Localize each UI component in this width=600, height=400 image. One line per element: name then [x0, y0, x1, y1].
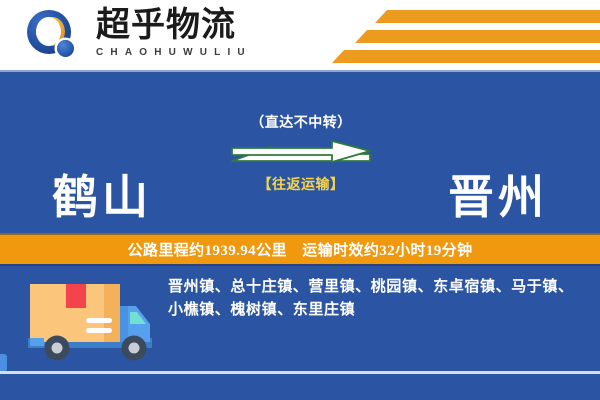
route-middle-block: （直达不中转） 【往返运输】: [226, 112, 376, 194]
logistics-route-banner: 超乎物流 CHAOHUWULIU 鹤山 （直达不中转） 【往返运输】 晋州: [0, 0, 600, 400]
round-trip-note: 【往返运输】: [226, 174, 376, 194]
circle-crescent-logo-icon: [27, 10, 81, 64]
road-line: [0, 371, 600, 374]
brand-header: 超乎物流 CHAOHUWULIU: [0, 0, 600, 72]
covered-towns-list: 晋州镇、总十庄镇、营里镇、桃园镇、东卓宿镇、马于镇、小樵镇、槐树镇、东里庄镇: [168, 276, 586, 322]
stripe-3: [332, 50, 600, 63]
left-edge-tab: [0, 354, 7, 372]
brand-name-cn: 超乎物流: [96, 8, 252, 44]
brand-text-block: 超乎物流 CHAOHUWULIU: [96, 8, 252, 58]
brand-name-en: CHAOHUWULIU: [96, 47, 252, 58]
delivery-truck-icon: [24, 278, 156, 364]
distance-duration-text: 公路里程约1939.94公里 运输时效约32小时19分钟: [128, 239, 473, 260]
destination-city: 晋州: [448, 161, 548, 227]
route-info-bar: 公路里程约1939.94公里 运输时效约32小时19分钟: [0, 233, 600, 266]
coverage-panel: 晋州镇、总十庄镇、营里镇、桃园镇、东卓宿镇、马于镇、小樵镇、槐树镇、东里庄镇: [0, 268, 600, 400]
route-panel: 鹤山 （直达不中转） 【往返运输】 晋州: [0, 72, 600, 232]
decorative-stripes: [300, 6, 600, 68]
direct-service-note: （直达不中转）: [226, 112, 376, 132]
double-headed-arrow-icon: [226, 138, 376, 170]
logo-accent-dot: [57, 40, 74, 57]
origin-city: 鹤山: [52, 161, 152, 227]
stripe-1: [375, 10, 600, 23]
stripe-2: [355, 30, 600, 43]
logo-crescent-cutout: [36, 17, 61, 46]
